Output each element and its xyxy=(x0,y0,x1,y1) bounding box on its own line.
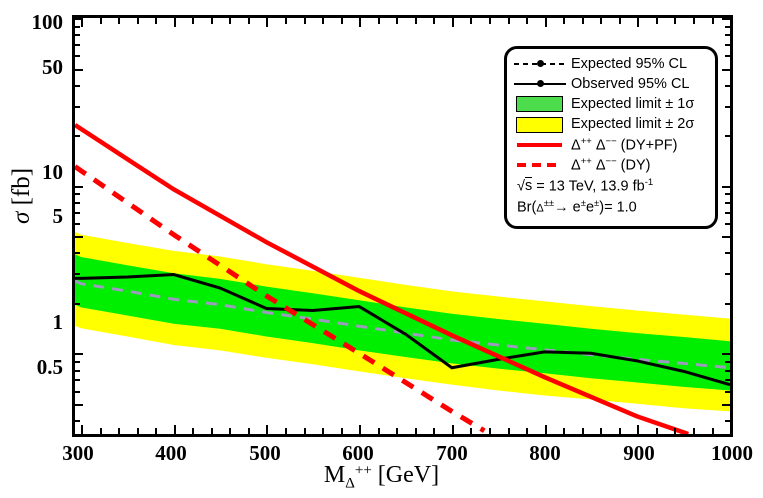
x-tick-840 xyxy=(582,428,584,434)
x-tick-label-700: 700 xyxy=(407,441,497,466)
x-tick-860 xyxy=(600,428,602,434)
legend-row-dy: Δ++ Δ−− (DY) xyxy=(514,155,709,175)
x-tick-top-980 xyxy=(712,18,714,24)
x-tick-1000 xyxy=(730,425,732,434)
x-tick-top-460 xyxy=(229,18,231,24)
legend-row-2sigma: Expected limit ± 2σ xyxy=(514,115,709,135)
observed-line-icon xyxy=(514,75,566,93)
x-tick-top-480 xyxy=(248,18,250,24)
x-tick-420 xyxy=(192,428,194,434)
x-tick-500 xyxy=(266,425,268,434)
x-tick-top-960 xyxy=(693,18,695,24)
y-tick-30 xyxy=(74,106,80,108)
y-tick-right-50 xyxy=(722,69,731,71)
y-tick-8 xyxy=(74,202,80,204)
x-tick-label-800: 800 xyxy=(500,441,590,466)
x-tick-740 xyxy=(489,428,491,434)
x-tick-640 xyxy=(396,428,398,434)
y-tick-70 xyxy=(74,44,80,46)
y-tick-label-5: 5 xyxy=(8,204,63,229)
yellow-band-swatch-icon xyxy=(514,116,566,134)
y-tick-0.6000000000000001 xyxy=(74,391,80,393)
x-tick-340 xyxy=(118,428,120,434)
x-tick-top-560 xyxy=(322,18,324,24)
y-tick-label-10: 10 xyxy=(8,160,63,185)
y-tick-right-8 xyxy=(725,202,731,204)
y-tick-right-5 xyxy=(722,236,731,238)
x-tick-top-800 xyxy=(545,18,547,27)
legend-label-dypf: Δ++ Δ−− (DY+PF) xyxy=(571,137,677,153)
x-tick-top-420 xyxy=(192,18,194,24)
x-axis-subscript: Δ xyxy=(345,475,355,491)
y-tick-10 xyxy=(74,186,83,188)
y-tick-right-2 xyxy=(725,303,731,305)
legend-label-expected: Expected 95% CL xyxy=(571,57,687,72)
x-tick-top-860 xyxy=(600,18,602,24)
y-tick-right-9 xyxy=(725,193,731,195)
legend-label-energy: √s = 13 TeV, 13.9 fb-1 xyxy=(517,178,653,194)
y-tick-0.8 xyxy=(74,370,80,372)
y-tick-90 xyxy=(74,26,80,28)
x-tick-top-620 xyxy=(378,18,380,24)
x-tick-top-540 xyxy=(304,18,306,24)
x-tick-460 xyxy=(229,428,231,434)
legend-label-dy: Δ++ Δ−− (DY) xyxy=(571,157,650,173)
legend-row-branching: Br(Δ±±→ e±e±)= 1.0 xyxy=(514,196,709,217)
x-tick-top-440 xyxy=(211,18,213,24)
x-tick-top-360 xyxy=(137,18,139,24)
x-tick-520 xyxy=(285,428,287,434)
x-tick-top-1000 xyxy=(730,18,732,27)
x-tick-320 xyxy=(100,428,102,434)
y-tick-6 xyxy=(74,223,80,225)
x-tick-480 xyxy=(248,428,250,434)
y-tick-4 xyxy=(74,252,80,254)
y-tick-right-70 xyxy=(725,44,731,46)
x-tick-top-780 xyxy=(526,18,528,24)
y-tick-right-0.4 xyxy=(725,420,731,422)
x-tick-820 xyxy=(563,428,565,434)
x-tick-top-340 xyxy=(118,18,120,24)
y-tick-right-20 xyxy=(725,135,731,137)
y-tick-right-80 xyxy=(725,34,731,36)
x-tick-700 xyxy=(452,425,454,434)
y-tick-0.5 xyxy=(74,404,83,406)
legend-label-2sigma: Expected limit ± 2σ xyxy=(571,117,694,132)
legend-label-1sigma: Expected limit ± 1σ xyxy=(571,97,694,112)
x-tick-top-700 xyxy=(452,18,454,27)
y-tick-right-1 xyxy=(722,353,731,355)
y-tick-9 xyxy=(74,193,80,195)
x-tick-660 xyxy=(415,428,417,434)
y-tick-60 xyxy=(74,55,80,57)
legend-row-expected: Expected 95% CL xyxy=(514,54,709,74)
x-tick-940 xyxy=(674,428,676,434)
x-tick-top-840 xyxy=(582,18,584,24)
x-tick-label-400: 400 xyxy=(126,441,216,466)
legend-row-dypf: Δ++ Δ−− (DY+PF) xyxy=(514,135,709,155)
x-tick-960 xyxy=(693,428,695,434)
x-tick-top-520 xyxy=(285,18,287,24)
legend-box: Expected 95% CL Observed 95% CL Expected… xyxy=(504,46,718,229)
x-tick-top-900 xyxy=(637,18,639,27)
y-tick-1 xyxy=(74,353,83,355)
x-tick-580 xyxy=(341,428,343,434)
x-tick-top-920 xyxy=(656,18,658,24)
x-tick-600 xyxy=(359,425,361,434)
x-tick-top-320 xyxy=(100,18,102,24)
y-tick-right-30 xyxy=(725,106,731,108)
x-tick-800 xyxy=(545,425,547,434)
y-tick-right-6 xyxy=(725,223,731,225)
red-solid-line-icon xyxy=(514,136,566,154)
y-tick-5 xyxy=(74,236,83,238)
x-tick-top-720 xyxy=(470,18,472,24)
figure-root: σ [fb] MΔ++ [GeV] 100 50 10 5 1 0.5 300 … xyxy=(0,0,763,498)
y-tick-right-0.9 xyxy=(725,361,731,363)
x-tick-top-640 xyxy=(396,18,398,24)
x-tick-top-680 xyxy=(433,18,435,24)
x-tick-920 xyxy=(656,428,658,434)
y-tick-label-0.5: 0.5 xyxy=(8,355,63,380)
y-tick-right-90 xyxy=(725,26,731,28)
legend-row-energy: √s = 13 TeV, 13.9 fb-1 xyxy=(514,175,709,196)
y-tick-2 xyxy=(74,303,80,305)
y-tick-right-40 xyxy=(725,85,731,87)
x-tick-560 xyxy=(322,428,324,434)
x-tick-top-380 xyxy=(155,18,157,24)
x-tick-top-400 xyxy=(174,18,176,27)
y-tick-0.7000000000000001 xyxy=(74,379,80,381)
legend-label-observed: Observed 95% CL xyxy=(571,77,689,92)
y-tick-right-0.5 xyxy=(722,404,731,406)
legend-label-branching: Br(Δ±±→ e±e±)= 1.0 xyxy=(517,199,637,215)
green-band-swatch-icon xyxy=(514,95,566,113)
y-tick-label-100: 100 xyxy=(8,10,63,35)
x-tick-380 xyxy=(155,428,157,434)
x-tick-360 xyxy=(137,428,139,434)
x-tick-900 xyxy=(637,425,639,434)
y-tick-3 xyxy=(74,273,80,275)
x-tick-880 xyxy=(619,428,621,434)
x-tick-label-600: 600 xyxy=(313,441,403,466)
x-tick-400 xyxy=(174,425,176,434)
x-tick-720 xyxy=(470,428,472,434)
x-tick-540 xyxy=(304,428,306,434)
x-tick-980 xyxy=(712,428,714,434)
y-tick-right-7 xyxy=(725,212,731,214)
x-tick-top-300 xyxy=(81,18,83,27)
y-tick-right-4 xyxy=(725,252,731,254)
y-tick-right-60 xyxy=(725,55,731,57)
y-tick-0.4 xyxy=(74,420,80,422)
y-tick-label-50: 50 xyxy=(8,55,63,80)
y-tick-right-0.7000000000000001 xyxy=(725,379,731,381)
x-tick-label-900: 900 xyxy=(594,441,684,466)
x-tick-label-300: 300 xyxy=(33,441,123,466)
x-tick-top-820 xyxy=(563,18,565,24)
x-tick-top-940 xyxy=(674,18,676,24)
expected-line-icon xyxy=(514,55,566,73)
y-tick-80 xyxy=(74,34,80,36)
y-tick-20 xyxy=(74,135,80,137)
x-tick-label-500: 500 xyxy=(220,441,310,466)
x-tick-680 xyxy=(433,428,435,434)
x-tick-top-740 xyxy=(489,18,491,24)
legend-row-1sigma: Expected limit ± 1σ xyxy=(514,94,709,114)
x-tick-top-580 xyxy=(341,18,343,24)
red-dashed-line-icon xyxy=(514,156,566,174)
x-tick-top-880 xyxy=(619,18,621,24)
x-tick-top-500 xyxy=(266,18,268,27)
x-tick-top-760 xyxy=(508,18,510,24)
x-tick-760 xyxy=(508,428,510,434)
x-tick-440 xyxy=(211,428,213,434)
y-tick-label-1: 1 xyxy=(8,310,63,335)
y-tick-7 xyxy=(74,212,80,214)
x-tick-780 xyxy=(526,428,528,434)
x-tick-300 xyxy=(81,425,83,434)
y-tick-right-0.8 xyxy=(725,370,731,372)
y-tick-right-0.6000000000000001 xyxy=(725,391,731,393)
y-tick-right-3 xyxy=(725,273,731,275)
x-tick-top-600 xyxy=(359,18,361,27)
x-tick-620 xyxy=(378,428,380,434)
x-axis-title: MΔ++ [GeV] xyxy=(0,462,763,492)
legend-row-observed: Observed 95% CL xyxy=(514,74,709,94)
x-tick-top-660 xyxy=(415,18,417,24)
y-tick-right-10 xyxy=(722,186,731,188)
y-tick-50 xyxy=(74,69,83,71)
y-tick-40 xyxy=(74,85,80,87)
x-tick-label-1000: 1000 xyxy=(687,441,763,466)
y-tick-0.9 xyxy=(74,361,80,363)
